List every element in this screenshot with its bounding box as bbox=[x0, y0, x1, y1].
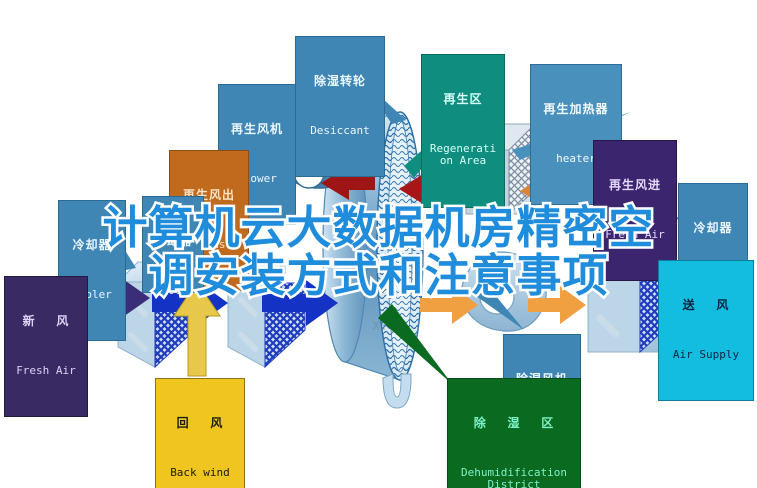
label-back-wind-cn: 回 风 bbox=[161, 417, 239, 430]
diagram-canvas: XY bbox=[0, 0, 757, 488]
label-desiccant-wheel-cn: 除湿转轮 bbox=[301, 75, 379, 88]
label-fresh-air-inlet[interactable]: 新 风 Fresh Air bbox=[4, 276, 88, 417]
label-dehumidification-district[interactable]: 除 湿 区 Dehumidification District bbox=[447, 378, 581, 488]
label-cooler-right-cn: 冷却器 bbox=[684, 222, 742, 235]
label-desiccant-wheel[interactable]: 除湿转轮 Desiccant bbox=[295, 36, 385, 177]
label-dehumidification-district-en: Dehumidification District bbox=[453, 467, 575, 488]
label-regeneration-fresh-air-en: Fresh Air bbox=[599, 229, 671, 241]
label-air-supply-cn: 送 风 bbox=[664, 299, 748, 312]
label-regeneration-blower-cn: 再生风机 bbox=[224, 123, 290, 136]
label-back-wind-en: Back wind bbox=[161, 467, 239, 479]
label-desiccant-wheel-en: Desiccant bbox=[301, 125, 379, 137]
label-regeneration-area-en: Regenerati on Area bbox=[427, 143, 499, 168]
label-regeneration-heater-cn: 再生加热器 bbox=[536, 103, 616, 116]
label-fresh-air-inlet-cn: 新 风 bbox=[10, 315, 82, 328]
label-regeneration-fresh-air-cn: 再生风进 bbox=[599, 179, 671, 192]
label-regeneration-area-cn: 再生区 bbox=[427, 93, 499, 106]
label-cooler-mid-cn: 冷却器 bbox=[148, 235, 198, 248]
label-cooler-mid[interactable]: 冷却器 bbox=[142, 196, 204, 293]
label-regeneration-area[interactable]: 再生区 Regenerati on Area bbox=[421, 54, 505, 208]
dehum-blower-housing bbox=[461, 252, 546, 331]
label-cooler-left-cn: 冷却器 bbox=[64, 239, 120, 252]
label-air-supply-en: Air Supply bbox=[664, 349, 748, 361]
label-air-supply[interactable]: 送 风 Air Supply bbox=[658, 260, 754, 401]
label-dehumidification-district-cn: 除 湿 区 bbox=[453, 417, 575, 430]
label-fresh-air-inlet-en: Fresh Air bbox=[10, 365, 82, 377]
label-back-wind[interactable]: 回 风 Back wind bbox=[155, 378, 245, 488]
